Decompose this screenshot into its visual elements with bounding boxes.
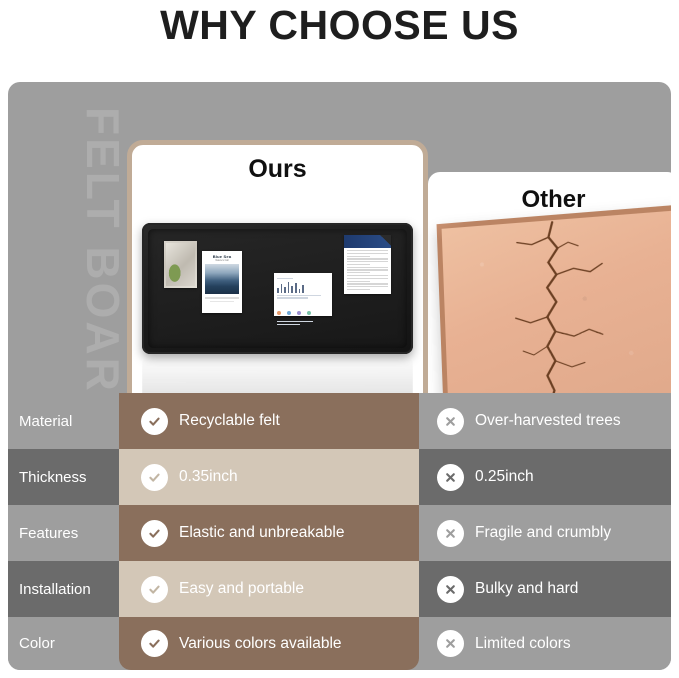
row-ours-cell: Easy and portable — [119, 561, 419, 617]
cork-board-surface — [442, 210, 671, 402]
poster-footer-line-2 — [210, 301, 234, 303]
check-circle-icon — [141, 520, 168, 547]
comparison-table: Material Recyclable felt Over-harvested … — [8, 393, 671, 670]
poster-artwork — [205, 264, 239, 294]
document-body — [344, 248, 391, 294]
table-row: Color Various colors available Limited c… — [8, 617, 671, 670]
row-other-text: Bulky and hard — [475, 580, 578, 598]
cork-crack-lines — [442, 210, 671, 402]
row-ours-text: 0.35inch — [179, 468, 238, 486]
row-ours-cell: Elastic and unbreakable — [119, 505, 419, 561]
row-label: Thickness — [8, 449, 119, 505]
x-circle-icon — [437, 576, 464, 603]
row-ours-text: Various colors available — [179, 635, 342, 653]
infographic-canvas: WHY CHOOSE US FELT BOARD Other — [0, 0, 679, 678]
row-label: Installation — [8, 561, 119, 617]
check-circle-icon — [141, 630, 168, 657]
row-other-cell: Over-harvested trees — [419, 393, 671, 449]
poster-footer-line — [205, 297, 239, 299]
poster-subtitle: Nature's Call — [205, 260, 239, 262]
pinned-photo — [164, 241, 197, 288]
row-other-text: 0.25inch — [475, 468, 534, 486]
row-other-cell: Limited colors — [419, 617, 671, 670]
table-row: Features Elastic and unbreakable Fragile… — [8, 505, 671, 561]
row-ours-text: Easy and portable — [179, 580, 304, 598]
row-label: Features — [8, 505, 119, 561]
felt-board-frame: Blue Sea Nature's Call — [142, 223, 413, 354]
row-ours-text: Elastic and unbreakable — [179, 524, 344, 542]
poster-title: Blue Sea — [205, 254, 239, 259]
document-folded-corner — [380, 235, 391, 246]
brand-watermark: FELT BOARD — [76, 107, 130, 407]
pinned-poster: Blue Sea Nature's Call — [202, 251, 242, 313]
row-other-cell: Bulky and hard — [419, 561, 671, 617]
cork-board-frame — [437, 204, 671, 409]
row-ours-text: Recyclable felt — [179, 412, 280, 430]
check-circle-icon — [141, 576, 168, 603]
ours-column-heading: Ours — [132, 155, 423, 184]
row-ours-cell: 0.35inch — [119, 449, 419, 505]
check-circle-icon — [141, 408, 168, 435]
row-label: Material — [8, 393, 119, 449]
table-row: Installation Easy and portable Bulky and… — [8, 561, 671, 617]
x-circle-icon — [437, 408, 464, 435]
x-circle-icon — [437, 520, 464, 547]
row-label: Color — [8, 617, 119, 670]
page-title: WHY CHOOSE US — [0, 0, 679, 48]
row-other-text: Fragile and crumbly — [475, 524, 611, 542]
row-other-cell: Fragile and crumbly — [419, 505, 671, 561]
table-row: Thickness 0.35inch 0.25inch — [8, 449, 671, 505]
x-circle-icon — [437, 464, 464, 491]
row-other-text: Over-harvested trees — [475, 412, 621, 430]
check-circle-icon — [141, 464, 168, 491]
x-circle-icon — [437, 630, 464, 657]
pinned-chart-sheet — [274, 273, 332, 316]
row-other-text: Limited colors — [475, 635, 571, 653]
table-row: Material Recyclable felt Over-harvested … — [8, 393, 671, 449]
row-ours-cell: Recyclable felt — [119, 393, 419, 449]
row-other-cell: 0.25inch — [419, 449, 671, 505]
pinned-document — [344, 235, 391, 294]
row-ours-cell: Various colors available — [119, 617, 419, 670]
